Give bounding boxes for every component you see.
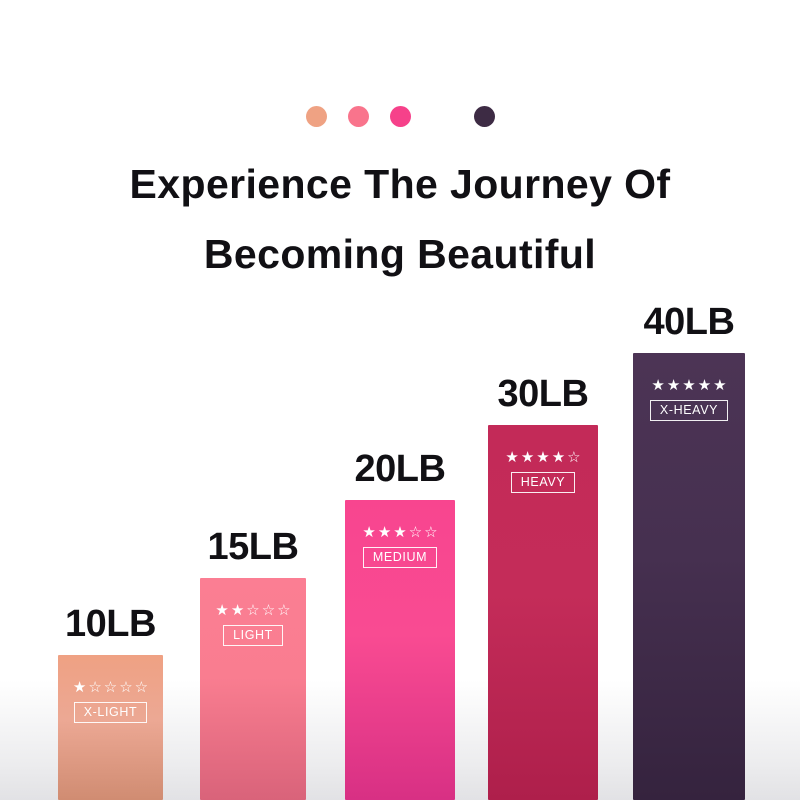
star-filled-icon: ★ <box>552 450 565 465</box>
bar-weight-label: 40LB <box>644 303 735 341</box>
star-empty-icon: ☆ <box>409 525 422 540</box>
star-empty-icon: ☆ <box>246 603 259 618</box>
bar-group[interactable]: 20LB★★★☆☆MEDIUM <box>345 500 455 800</box>
color-swatch-row <box>0 106 800 127</box>
star-empty-icon: ☆ <box>424 525 437 540</box>
star-filled-icon: ★ <box>505 450 518 465</box>
star-filled-icon: ★ <box>231 603 244 618</box>
bar-group[interactable]: 40LB★★★★★X-HEAVY <box>633 353 745 800</box>
bar-group[interactable]: 10LB★☆☆☆☆X-LIGHT <box>58 655 163 800</box>
star-filled-icon: ★ <box>378 525 391 540</box>
star-empty-icon: ☆ <box>135 680 148 695</box>
star-filled-icon: ★ <box>713 378 726 393</box>
star-filled-icon: ★ <box>362 525 375 540</box>
star-empty-icon: ☆ <box>277 603 290 618</box>
tier-label: HEAVY <box>511 472 575 493</box>
tier-label: MEDIUM <box>363 547 437 568</box>
bar-group[interactable]: 15LB★★☆☆☆LIGHT <box>200 578 306 800</box>
star-empty-icon: ☆ <box>567 450 580 465</box>
star-empty-icon: ☆ <box>262 603 275 618</box>
star-filled-icon: ★ <box>698 378 711 393</box>
dot-x-light <box>306 106 327 127</box>
tier-label: LIGHT <box>223 625 283 646</box>
page-title: Experience The Journey Of Becoming Beaut… <box>0 149 800 289</box>
dot-x-heavy <box>474 106 495 127</box>
bar-badge: ★★★★★X-HEAVY <box>633 378 745 421</box>
bar-column[interactable] <box>58 655 163 800</box>
star-filled-icon: ★ <box>682 378 695 393</box>
headline-line-1: Experience The Journey Of <box>0 149 800 219</box>
dot-medium <box>390 106 411 127</box>
bar-badge: ★☆☆☆☆X-LIGHT <box>58 680 163 723</box>
star-empty-icon: ☆ <box>119 680 132 695</box>
bar-group[interactable]: 30LB★★★★☆HEAVY <box>488 425 598 800</box>
star-rating: ★★☆☆☆ <box>215 603 290 618</box>
dot-heavy <box>432 106 453 127</box>
bar-badge: ★★★★☆HEAVY <box>488 450 598 493</box>
star-rating: ★★★★★ <box>651 378 726 393</box>
star-filled-icon: ★ <box>667 378 680 393</box>
bar-weight-label: 10LB <box>65 605 156 643</box>
bar-weight-label: 15LB <box>208 528 299 566</box>
star-filled-icon: ★ <box>393 525 406 540</box>
star-filled-icon: ★ <box>536 450 549 465</box>
tier-label: X-HEAVY <box>650 400 728 421</box>
bar-weight-label: 30LB <box>498 375 589 413</box>
star-empty-icon: ☆ <box>104 680 117 695</box>
bar-badge: ★★★☆☆MEDIUM <box>345 525 455 568</box>
star-filled-icon: ★ <box>651 378 664 393</box>
star-rating: ★☆☆☆☆ <box>73 680 148 695</box>
star-rating: ★★★☆☆ <box>362 525 437 540</box>
star-rating: ★★★★☆ <box>505 450 580 465</box>
star-filled-icon: ★ <box>521 450 534 465</box>
tier-label: X-LIGHT <box>74 702 148 723</box>
bar-badge: ★★☆☆☆LIGHT <box>200 603 306 646</box>
star-filled-icon: ★ <box>215 603 228 618</box>
star-filled-icon: ★ <box>73 680 86 695</box>
bar-weight-label: 20LB <box>355 450 446 488</box>
dot-light <box>348 106 369 127</box>
headline-line-2: Becoming Beautiful <box>0 219 800 289</box>
star-empty-icon: ☆ <box>88 680 101 695</box>
